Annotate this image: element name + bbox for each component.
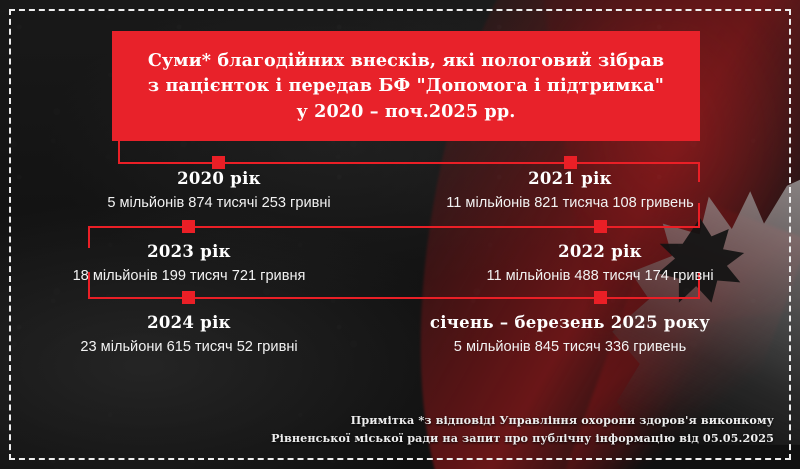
bracket-horizontal bbox=[118, 162, 700, 164]
bracket-left-vertical bbox=[118, 141, 120, 164]
entry-2020: 2020 рік 5 мільйонів 874 тисячі 253 грив… bbox=[69, 169, 369, 213]
entry-amount: 18 мільйонів 199 тисяч 721 гривня bbox=[39, 267, 339, 286]
entry-period: 2024 рік bbox=[39, 313, 339, 334]
tick-marker-2021 bbox=[564, 156, 577, 169]
connector-bracket-row1 bbox=[118, 141, 700, 165]
page-title: Суми* благодійних внесків, які пологовий… bbox=[134, 48, 678, 125]
entry-period: 2022 рік bbox=[450, 242, 750, 263]
entry-amount: 23 мільйони 615 тисяч 52 гривні bbox=[39, 338, 339, 357]
entry-amount: 11 мільйонів 488 тисяч 174 гривні bbox=[450, 267, 750, 286]
entry-2023: 2023 рік 18 мільйонів 199 тисяч 721 грив… bbox=[39, 242, 339, 286]
entry-amount: 5 мільйонів 845 тисяч 336 гривень bbox=[420, 338, 720, 357]
entry-2024: 2024 рік 23 мільйони 615 тисяч 52 гривні bbox=[39, 313, 339, 357]
entry-amount: 5 мільйонів 874 тисячі 253 гривні bbox=[69, 194, 369, 213]
bracket-horizontal-3 bbox=[88, 297, 700, 299]
entry-amount: 11 мільйонів 821 тисяча 108 гривень bbox=[420, 194, 720, 213]
entry-2025-q1: січень – березень 2025 року 5 мільйонів … bbox=[420, 313, 720, 357]
tick-marker-2020 bbox=[212, 156, 225, 169]
source-footnote: Примітка *з відповіді Управління охорони… bbox=[271, 412, 774, 447]
entry-2021: 2021 рік 11 мільйонів 821 тисяча 108 гри… bbox=[420, 169, 720, 213]
tick-marker-2024 bbox=[182, 291, 195, 304]
entry-period: 2020 рік bbox=[69, 169, 369, 190]
infographic-poster: Суми* благодійних внесків, які пологовий… bbox=[0, 0, 800, 469]
entry-period: 2021 рік bbox=[420, 169, 720, 190]
tick-marker-2023 bbox=[182, 220, 195, 233]
title-banner: Суми* благодійних внесків, які пологовий… bbox=[112, 31, 700, 141]
entry-2022: 2022 рік 11 мільйонів 488 тисяч 174 грив… bbox=[450, 242, 750, 286]
bracket-horizontal-2 bbox=[88, 226, 700, 228]
tick-marker-2025 bbox=[594, 291, 607, 304]
entry-period: січень – березень 2025 року bbox=[420, 313, 720, 334]
entry-period: 2023 рік bbox=[39, 242, 339, 263]
tick-marker-2022 bbox=[594, 220, 607, 233]
